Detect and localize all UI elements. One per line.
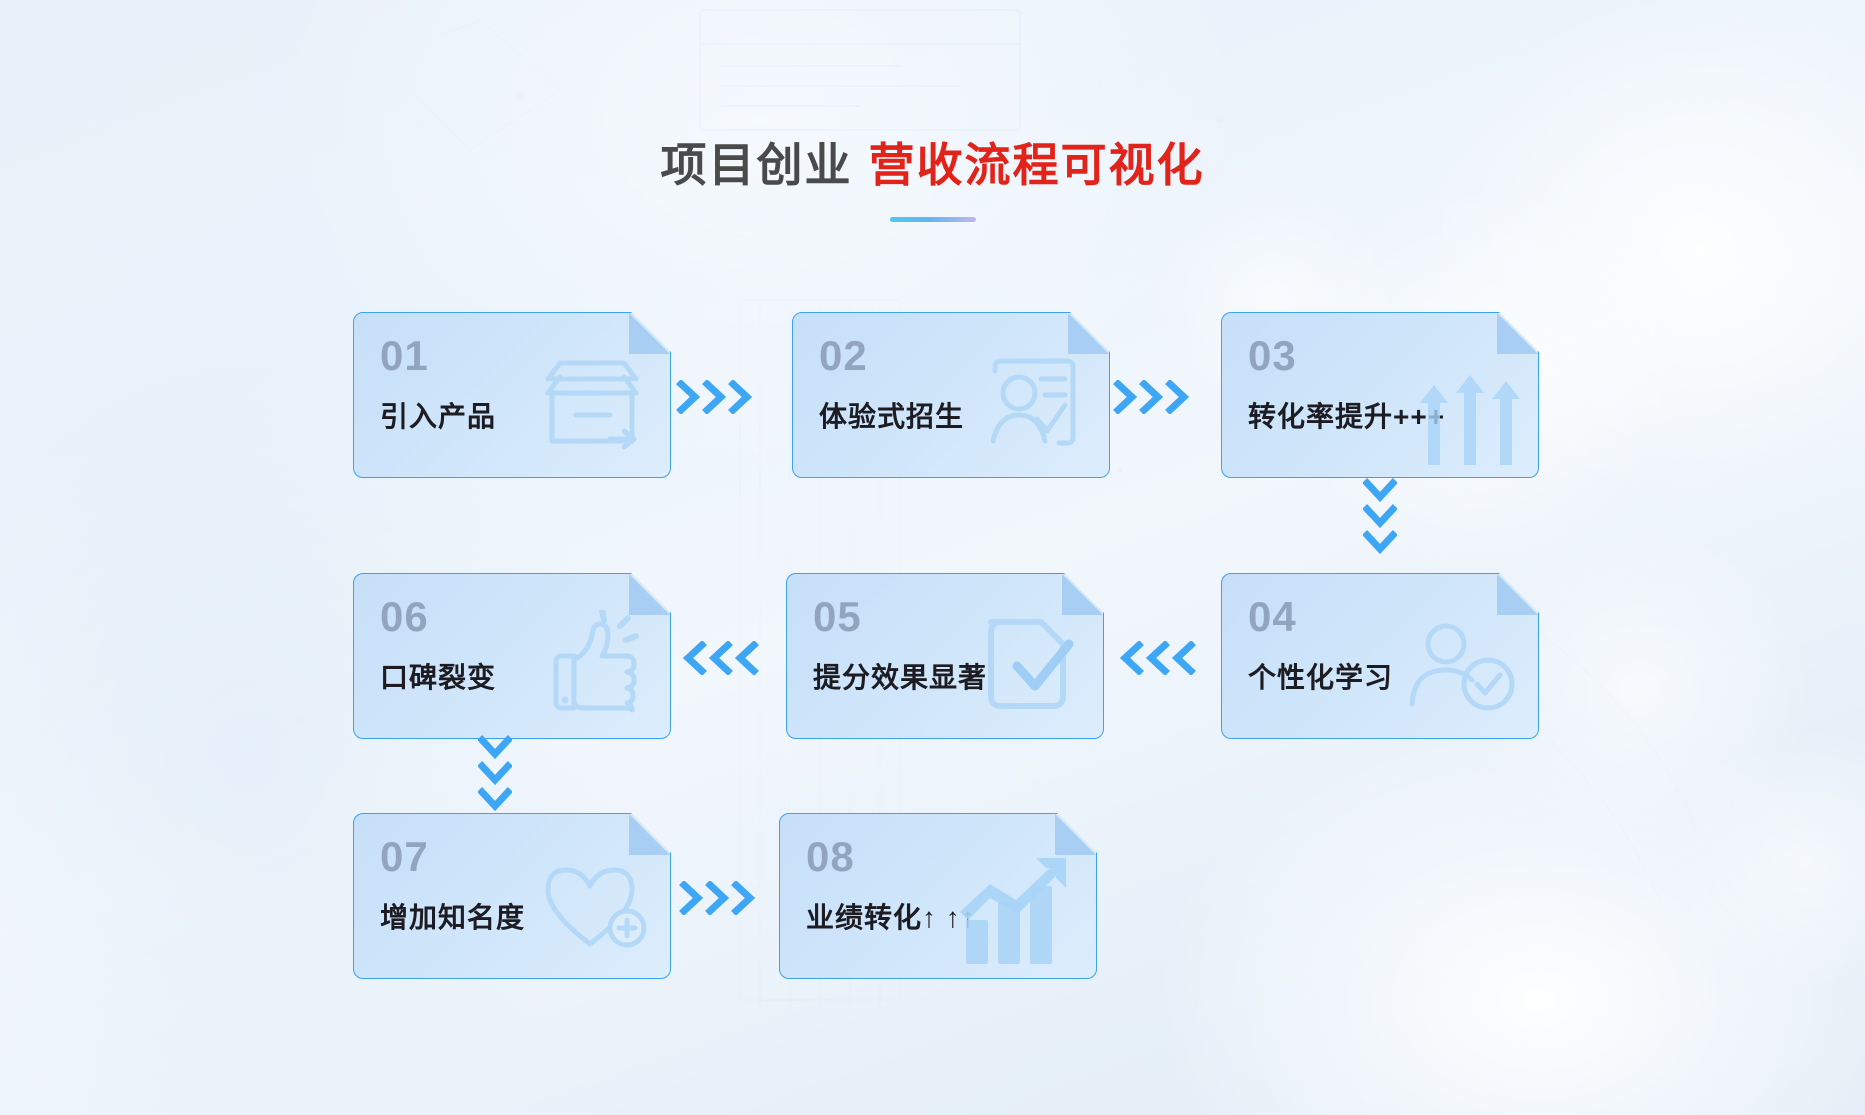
step-label: 体验式招生 [819,395,964,435]
chevron-left-icon [733,641,759,675]
bar-chart-up-icon [956,856,1084,974]
chevron-down-icon [478,761,512,787]
chevron-left-icon [1144,641,1170,675]
chevron-right-icon [1139,380,1165,414]
connector-03-to-04 [1363,478,1397,556]
chevron-right-icon [676,380,702,414]
connector-06-to-07 [478,735,512,813]
chevron-left-icon [707,641,733,675]
title-dark-text: 项目创业 [661,139,853,191]
step-number: 06 [380,596,429,638]
heart-plus-icon [532,850,652,962]
step-card-04[interactable]: 04 个性化学习 [1221,573,1539,739]
step-number: 05 [813,596,862,638]
corner-fold [1497,574,1538,615]
thumbs-up-icon [532,610,652,722]
title-red-text: 营收流程可视化 [869,139,1205,191]
step-number: 02 [819,335,868,377]
chevron-right-icon [679,881,705,915]
connector-04-to-05 [1118,641,1196,675]
chevron-left-icon [681,641,707,675]
infographic-canvas: 项目创业营收流程可视化 01 引入产品 02 体验式招生 [0,0,1865,1115]
chevron-down-icon [1363,478,1397,504]
chevron-right-icon [1113,380,1139,414]
connector-02-to-03 [1113,380,1191,414]
chevron-down-icon [478,787,512,813]
step-number: 07 [380,836,429,878]
page-title: 项目创业营收流程可视化 [0,140,1865,191]
chevron-left-icon [1170,641,1196,675]
step-label: 口碑裂变 [380,656,496,696]
step-card-07[interactable]: 07 增加知名度 [353,813,671,979]
connector-07-to-08 [679,881,757,915]
step-label: 业绩转化↑ ↑↑ [806,896,976,936]
three-up-arrows-icon [1398,347,1528,477]
step-card-08[interactable]: 08 业绩转化↑ ↑↑ [779,813,1097,979]
connector-05-to-06 [681,641,759,675]
chevron-right-icon [728,380,754,414]
corner-fold [1055,814,1096,855]
chevron-right-icon [705,881,731,915]
step-number: 04 [1248,596,1297,638]
corner-fold [629,574,670,615]
step-label: 个性化学习 [1248,656,1393,696]
step-number: 03 [1248,335,1297,377]
step-number: 01 [380,335,429,377]
title-block: 项目创业营收流程可视化 [0,140,1865,222]
chevron-down-icon [478,735,512,761]
person-check-icon [1400,610,1520,722]
chevron-right-icon [702,380,728,414]
step-card-03[interactable]: 03 转化率提升+++ [1221,312,1539,478]
profile-card-icon [971,349,1091,461]
chevron-right-icon [1165,380,1191,414]
chevron-down-icon [1363,504,1397,530]
step-label: 引入产品 [380,395,496,435]
archive-box-arrow-icon [532,349,652,461]
corner-fold [1068,313,1109,354]
chevron-down-icon [1363,530,1397,556]
chevron-right-icon [731,881,757,915]
corner-fold [629,814,670,855]
step-number: 08 [806,836,855,878]
step-card-05[interactable]: 05 提分效果显著 [786,573,1104,739]
step-card-06[interactable]: 06 口碑裂变 [353,573,671,739]
step-label: 提分效果显著 [813,656,987,696]
step-card-02[interactable]: 02 体验式招生 [792,312,1110,478]
corner-fold [1062,574,1103,615]
document-check-icon [965,610,1085,722]
corner-fold [629,313,670,354]
step-card-01[interactable]: 01 引入产品 [353,312,671,478]
step-label: 增加知名度 [380,896,525,936]
chevron-left-icon [1118,641,1144,675]
title-divider [890,217,976,222]
connector-01-to-02 [676,380,754,414]
